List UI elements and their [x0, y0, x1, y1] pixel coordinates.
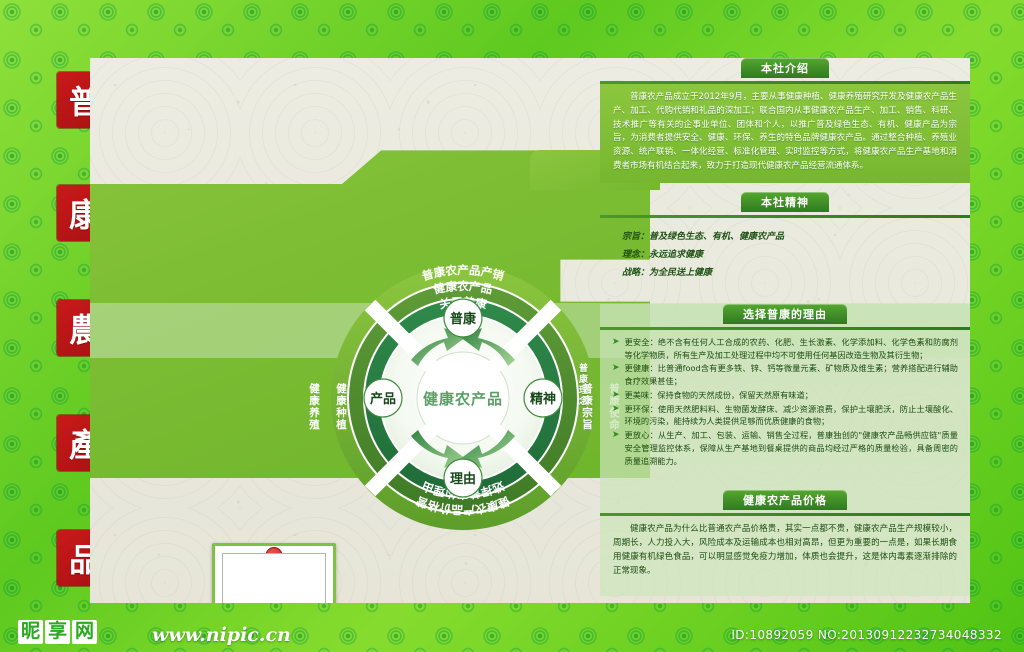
wheel-hub-right-label: 精神: [530, 391, 556, 407]
spirit-line-3: 战略：为全民送上健康: [622, 264, 957, 282]
wheel-right-label-2: 普康理念: [577, 363, 589, 407]
wheel-hub-left: 产品: [364, 379, 402, 417]
certificate-placeholder-card[interactable]: [212, 543, 336, 603]
reason-item: ➤ 更健康：比普通food含有更多铁、锌、钙等微量元素、矿物质及维生素；营养搭配…: [612, 362, 958, 387]
footer-watermark-bar: 昵 享 网 www.nipic.cn ID:10892059 NO:201309…: [0, 616, 1024, 652]
reason-text: 更安全：绝不含有任何人工合成的农药、化肥、生长激素、化学添加料、化学色素和防腐剂…: [625, 336, 958, 361]
section-price-head: 健康农产品价格: [600, 490, 970, 513]
reason-text: 更健康：比普通food含有更多铁、锌、钙等微量元素、矿物质及维生素；营养搭配进行…: [625, 362, 958, 387]
wheel-hub-top-label: 普康: [450, 311, 477, 327]
section-spirit: 本社精神 宗旨：普及绿色生态、有机、健康农产品 理念：永远追求健康 战略：为全民…: [600, 192, 970, 295]
wheel-hub-right: 精神: [524, 379, 562, 417]
logo-char-1: 昵: [18, 620, 43, 644]
wheel-left-label-2: 健康养殖: [308, 382, 320, 431]
asset-id-number: ID:10892059 NO:20130912232734048332: [731, 628, 1002, 642]
card-inner-frame: [222, 553, 326, 603]
section-price-title: 健康农产品价格: [723, 490, 847, 510]
section-intro-bg: 普康农产品成立于2012年9月，主要从事健康种植、健康养殖研究开发及健康农产品生…: [600, 84, 970, 183]
reason-text: 更美味：保持食物的天然成份，保留天然原有味道；: [625, 389, 958, 402]
reason-item: ➤ 更放心：从生产、加工、包装、运输、销售全过程，普康独创的"健康农产品畅供应链…: [612, 429, 958, 467]
section-spirit-body: 宗旨：普及绿色生态、有机、健康农产品 理念：永远追求健康 战略：为全民送上健康: [600, 218, 970, 295]
logo-char-2: 享: [45, 620, 70, 644]
section-price-body: 健康农产品为什么比普通农产品价格贵，其实一点都不贵，健康农产品生产规模较小，周期…: [600, 516, 970, 587]
reason-text: 更环保：使用天然肥料料、生物菌发酵床、减少资源浪费，保护土壤肥沃，防止土壤酸化、…: [625, 403, 958, 428]
info-panel: 本社介绍 普康农产品成立于2012年9月，主要从事健康种植、健康养殖研究开发及健…: [600, 58, 970, 603]
wheel-hub-bottom-label: 理由: [450, 471, 476, 487]
section-intro-head: 本社介绍: [600, 58, 970, 81]
section-reasons: 选择普康的理由 ➤ 更安全：绝不含有任何人工合成的农药、化肥、生长激素、化学添加…: [600, 304, 970, 476]
poster-canvas: 普 康 農 產 品: [0, 0, 1024, 652]
chevron-right-icon: ➤: [612, 336, 620, 361]
wheel-hub-bottom: 理由: [444, 459, 482, 497]
nipic-logo: 昵 享 网: [18, 620, 97, 644]
wheel-left-label-1: 健康种植: [335, 382, 347, 431]
spirit-line-2: 理念：永远追求健康: [622, 246, 957, 264]
reason-item: ➤ 更安全：绝不含有任何人工合成的农药、化肥、生长激素、化学添加料、化学色素和防…: [612, 336, 958, 361]
spacer-3: [600, 476, 970, 490]
spacer-1: [600, 183, 970, 192]
chevron-right-icon: ➤: [612, 429, 620, 467]
section-intro: 本社介绍 普康农产品成立于2012年9月，主要从事健康种植、健康养殖研究开发及健…: [600, 58, 970, 183]
section-spirit-title: 本社精神: [741, 192, 829, 212]
spacer-2: [600, 295, 970, 304]
section-spirit-head: 本社精神: [600, 192, 970, 215]
poster-page: 普康农产品产销 健康农产品 关于普康 选择普康的理由 健康农产品价格营 健康养殖…: [90, 58, 970, 603]
section-reasons-head: 选择普康的理由: [600, 304, 970, 327]
reason-item: ➤ 更美味：保持食物的天然成份，保留天然原有味道；: [612, 389, 958, 402]
reason-item: ➤ 更环保：使用天然肥料料、生物菌发酵床、减少资源浪费，保护土壤肥沃，防止土壤酸…: [612, 403, 958, 428]
reason-text: 更放心：从生产、加工、包装、运输、销售全过程，普康独创的"健康农产品畅供应链"质…: [625, 429, 958, 467]
section-reasons-title: 选择普康的理由: [723, 304, 847, 324]
site-url[interactable]: www.nipic.cn: [152, 624, 291, 646]
chevron-right-icon: ➤: [612, 362, 620, 387]
section-intro-paragraph: 普康农产品成立于2012年9月，主要从事健康种植、健康养殖研究开发及健康农产品生…: [613, 91, 957, 174]
spacer-4: [600, 587, 970, 596]
section-intro-body: 普康农产品成立于2012年9月，主要从事健康种植、健康养殖研究开发及健康农产品生…: [600, 84, 970, 183]
section-price: 健康农产品价格 健康农产品为什么比普通农产品价格贵，其实一点都不贵，健康农产品生…: [600, 490, 970, 587]
section-price-paragraph: 健康农产品为什么比普通农产品价格贵，其实一点都不贵，健康农产品生产规模较小，周期…: [613, 523, 957, 578]
spacer-5: [600, 596, 970, 603]
spirit-line-1: 宗旨：普及绿色生态、有机、健康农产品: [622, 228, 957, 246]
logo-char-3: 网: [72, 620, 97, 644]
wheel-hub-left-label: 产品: [370, 391, 396, 407]
tinted-group: 选择普康的理由 ➤ 更安全：绝不含有任何人工合成的农药、化肥、生长激素、化学添加…: [600, 304, 970, 596]
section-reasons-list: ➤ 更安全：绝不含有任何人工合成的农药、化肥、生长激素、化学添加料、化学色素和防…: [600, 330, 970, 476]
wheel-hub-top: 普康: [444, 299, 482, 337]
chevron-right-icon: ➤: [612, 389, 620, 402]
chevron-right-icon: ➤: [612, 403, 620, 428]
wheel-center-label: 健康农产品: [423, 390, 503, 408]
section-intro-title: 本社介绍: [741, 58, 829, 78]
